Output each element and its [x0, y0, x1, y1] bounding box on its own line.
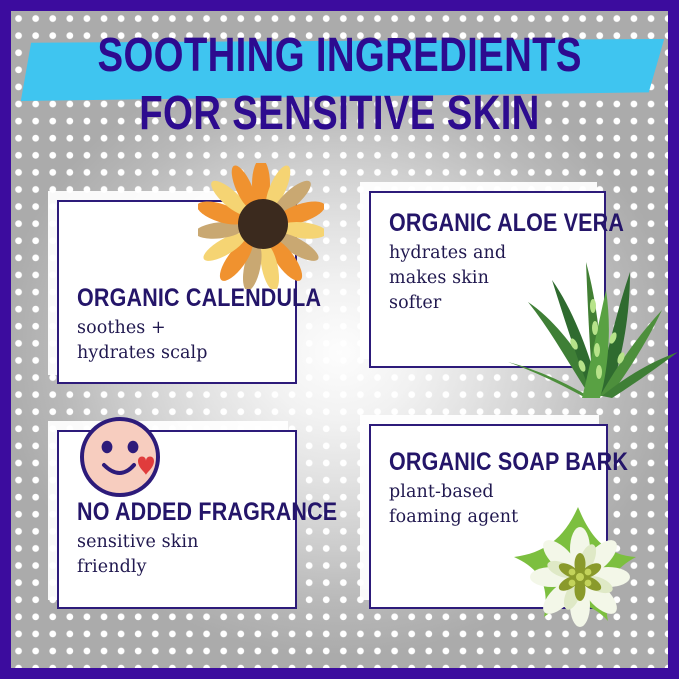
- card-heading: NO ADDED FRAGRANCE: [77, 498, 254, 526]
- title-line-1: SOOTHING INGREDIENTS: [97, 28, 581, 84]
- card-text-block: ORGANIC SOAP BARK plant-based foaming ag…: [389, 448, 594, 530]
- card-text-block: NO ADDED FRAGRANCE sensitive skin friend…: [77, 498, 283, 580]
- card-heading: ORGANIC ALOE VERA: [389, 209, 564, 237]
- card-text-block: ORGANIC ALOE VERA hydrates and makes ski…: [389, 209, 592, 316]
- page-title: SOOTHING INGREDIENTS FOR SENSITIVE SKIN: [0, 28, 679, 142]
- card-body: soothes + hydrates scalp: [77, 316, 283, 366]
- card-text-block: ORGANIC CALENDULA soothes + hydrates sca…: [77, 284, 283, 366]
- card-body-line-2: foaming agent: [389, 505, 594, 530]
- card-body-line-3: softer: [389, 291, 592, 316]
- card-heading: ORGANIC SOAP BARK: [389, 448, 565, 476]
- card-body: hydrates and makes skin softer: [389, 241, 592, 316]
- card-body-line-1: sensitive skin: [77, 530, 283, 555]
- card-heading: ORGANIC CALENDULA: [77, 284, 254, 312]
- card-organic-soap-bark[interactable]: ORGANIC SOAP BARK plant-based foaming ag…: [369, 424, 608, 609]
- card-body-line-2: makes skin: [389, 266, 592, 291]
- card-no-added-fragrance[interactable]: NO ADDED FRAGRANCE sensitive skin friend…: [57, 430, 297, 609]
- title-line-2: FOR SENSITIVE SKIN: [68, 86, 611, 142]
- card-body: plant-based foaming agent: [389, 480, 594, 530]
- card-body-line-2: friendly: [77, 555, 283, 580]
- card-organic-aloe-vera[interactable]: ORGANIC ALOE VERA hydrates and makes ski…: [369, 191, 606, 368]
- infographic-poster: SOOTHING INGREDIENTS FOR SENSITIVE SKIN …: [0, 0, 679, 679]
- title-highlight-wrap: SOOTHING INGREDIENTS: [33, 28, 646, 84]
- card-body-line-1: soothes +: [77, 316, 283, 341]
- card-body-line-2: hydrates scalp: [77, 341, 283, 366]
- card-body-line-1: plant-based: [389, 480, 594, 505]
- card-body: sensitive skin friendly: [77, 530, 283, 580]
- card-organic-calendula[interactable]: ORGANIC CALENDULA soothes + hydrates sca…: [57, 200, 297, 384]
- card-body-line-1: hydrates and: [389, 241, 592, 266]
